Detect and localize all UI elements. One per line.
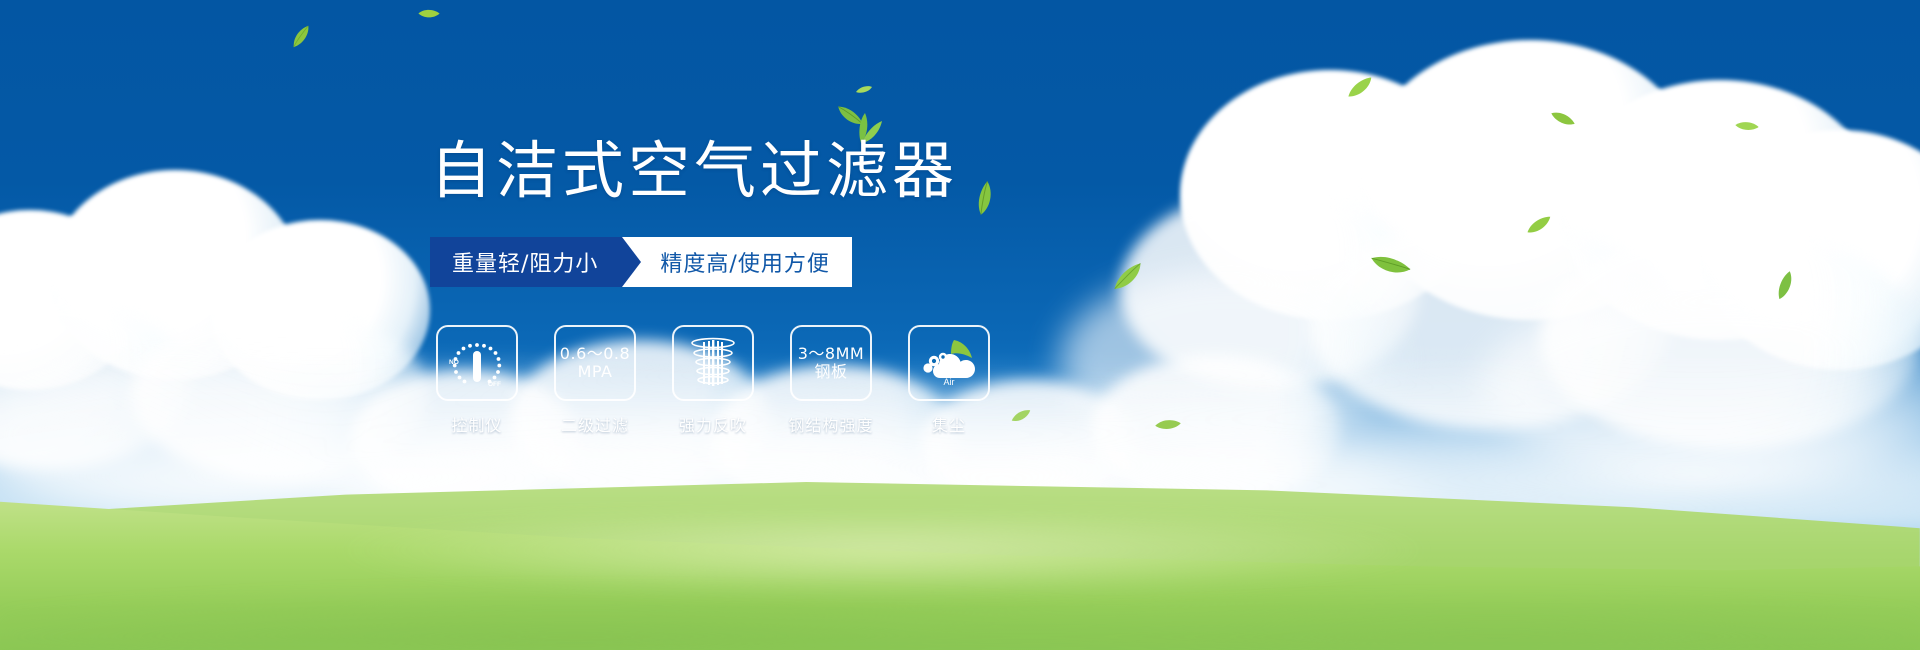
tagline-tab-secondary[interactable]: 精度高/使用方便 xyxy=(620,237,851,287)
feature-box: 0.6～0.8 MPA xyxy=(554,325,636,401)
page-title: 自洁式空气过滤器 xyxy=(430,140,958,202)
feature-caption: 控制仪 xyxy=(451,412,502,436)
feature-caption: 集尘 xyxy=(932,412,966,436)
svg-text:Air: Air xyxy=(944,377,955,387)
feature-text-line2: MPA xyxy=(578,363,613,381)
dial-gauge-icon: NO OFF xyxy=(448,337,506,389)
feature-box: 3～8MM 钢板 xyxy=(790,325,872,401)
feature-text-line1: 0.6～0.8 xyxy=(560,345,630,363)
air-cloud-icon: Air xyxy=(918,338,980,388)
feature-item[interactable]: Air 集尘 xyxy=(908,325,990,436)
feature-text-line1: 3～8MM xyxy=(798,345,864,363)
feature-caption: 强力反吹 xyxy=(679,412,747,436)
tagline-tabs: 重量轻/阻力小 精度高/使用方便 xyxy=(430,237,852,287)
feature-item[interactable]: NO OFF 控制仪 xyxy=(436,325,518,436)
feature-item[interactable]: 强力反吹 xyxy=(672,325,754,436)
feature-box: NO OFF xyxy=(436,325,518,401)
feature-text-line2: 钢板 xyxy=(814,363,847,381)
feature-item[interactable]: 3～8MM 钢板 钢结构强度 xyxy=(790,325,872,436)
svg-text:OFF: OFF xyxy=(488,381,501,388)
feature-list: NO OFF 控制仪 0.6～0.8 MPA 二级过滤 xyxy=(436,325,990,436)
feature-item[interactable]: 0.6～0.8 MPA 二级过滤 xyxy=(554,325,636,436)
feature-caption: 钢结构强度 xyxy=(789,412,874,436)
feature-box: Air xyxy=(908,325,990,401)
feature-box xyxy=(672,325,754,401)
tagline-tab-primary[interactable]: 重量轻/阻力小 xyxy=(430,237,622,287)
hero-banner: 自洁式空气过滤器 重量轻/阻力小 精度高/使用方便 xyxy=(0,0,1920,650)
svg-text:NO: NO xyxy=(449,359,459,366)
feature-caption: 二级过滤 xyxy=(561,412,629,436)
banner-content: 自洁式空气过滤器 重量轻/阻力小 精度高/使用方便 xyxy=(0,0,1920,650)
coil-filter-icon xyxy=(685,336,741,390)
